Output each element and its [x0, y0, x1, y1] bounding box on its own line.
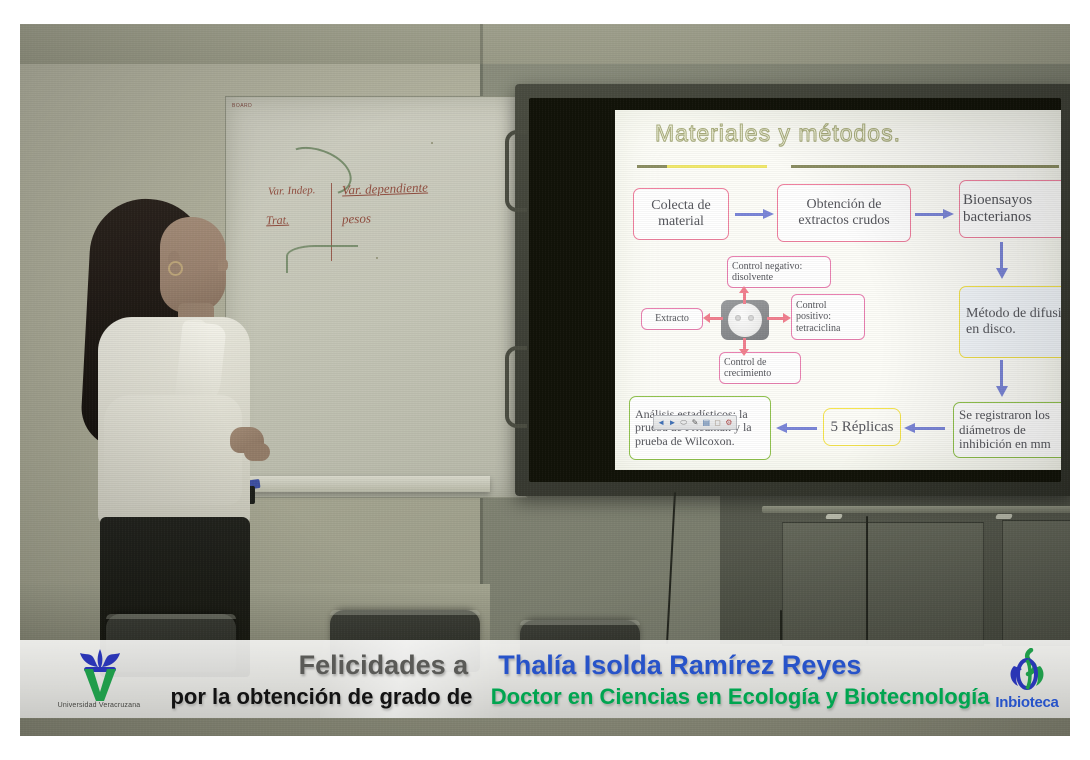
hanging-cable [866, 516, 868, 644]
slide-title: Materiales y métodos. [655, 120, 901, 147]
flow-arrow-1 [735, 208, 775, 220]
universidad-veracruzana-logo: Universidad Veracruzana [44, 646, 154, 718]
ceiling-band [20, 24, 1070, 64]
equipment-rail [762, 506, 1070, 513]
banner-text-block: Felicidades a Thalía Isolda Ramírez Reye… [170, 644, 990, 716]
flow-arrow-3 [995, 242, 1009, 282]
flow-node-diametros: Se registraron los diámetros de inhibici… [953, 402, 1061, 458]
petri-arrow-left [703, 313, 723, 325]
powerpoint-slide: Materiales y métodos. Colecta de materia… [615, 110, 1061, 470]
banner-line-2: por la obtención de grado de Doctor en C… [170, 682, 989, 712]
options-icon[interactable]: ⚙ [724, 417, 734, 428]
whiteboard-note-var-dependiente: Var. dependiente [342, 180, 428, 199]
inbioteca-caption: Inbioteca [984, 694, 1070, 711]
flow-node-bioensayos: Bioensayos bacterianos [959, 180, 1061, 238]
uv-caption: Universidad Veracruzana [44, 702, 154, 709]
banner-felicidades-text: Felicidades a [299, 650, 469, 680]
whiteboard-note-var-indep: Var. Indep. [268, 184, 316, 198]
flow-arrow-5 [903, 422, 947, 436]
slide-rule-olive-right [791, 165, 1059, 168]
banner-line-1: Felicidades a Thalía Isolda Ramírez Reye… [299, 648, 862, 682]
whiteboard-note-pesos: pesos [342, 211, 371, 228]
petri-label-control-positivo: Control positivo: tetraciclina [791, 294, 865, 340]
presenter [82, 199, 297, 669]
petri-label-control-negativo: Control negativo: disolvente [727, 256, 831, 288]
cable-clip-right [995, 514, 1013, 519]
uv-letter-v-icon [82, 668, 118, 702]
banner-degree-name: Doctor en Ciencias en Ecología y Biotecn… [491, 684, 990, 709]
presenter-nose [218, 259, 228, 271]
slide-rule-olive-left [637, 165, 667, 168]
flow-arrow-4 [995, 360, 1009, 400]
frame-handle-bottom [505, 346, 527, 428]
presentation-photo: BOARD Var. Indep. Var. dependiente Trat.… [20, 24, 1070, 736]
next-slide-icon[interactable]: ► [667, 417, 677, 428]
presenter-hand-second [244, 443, 270, 461]
previous-slide-icon[interactable]: ◄ [656, 417, 666, 428]
flow-arrow-6 [775, 422, 819, 436]
projection-screen-frame: Materiales y métodos. Colecta de materia… [515, 84, 1070, 496]
flow-arrow-2 [915, 208, 955, 220]
slide-menu-icon[interactable]: ▤ [701, 417, 711, 428]
inbioteca-flame-icon [984, 648, 1070, 694]
whiteboard-mark [431, 142, 433, 144]
whiteboard-brand-label: BOARD [232, 103, 252, 109]
inbioteca-logo: Inbioteca [984, 648, 1070, 718]
petri-dish-illustration [721, 300, 769, 340]
flow-node-obtencion: Obtención de extractos crudos [777, 184, 911, 242]
flow-node-metodo-difusion: Método de difusión en disco. [959, 286, 1061, 358]
slide-rule-yellow [667, 165, 767, 168]
banner-graduate-name: Thalía Isolda Ramírez Reyes [498, 650, 861, 680]
presenter-sleeve [104, 395, 242, 505]
pen-icon[interactable]: ✎ [690, 417, 700, 428]
petri-label-extracto: Extracto [641, 308, 703, 330]
whiteboard-mark [376, 257, 378, 259]
cable-clip-left [825, 514, 843, 519]
flow-node-replicas: 5 Réplicas [823, 408, 901, 446]
presenter-earring [168, 261, 183, 276]
congratulations-banner: Felicidades a Thalía Isolda Ramírez Reye… [20, 640, 1070, 718]
equipment-panel-right [1002, 520, 1070, 646]
petri-label-control-crecimiento: Control de crecimiento [719, 352, 801, 384]
projection-screen-surface: Materiales y métodos. Colecta de materia… [529, 98, 1061, 482]
petri-arrow-up [739, 286, 751, 304]
petri-arrow-down [739, 338, 751, 356]
poster-root: BOARD Var. Indep. Var. dependiente Trat.… [0, 0, 1090, 760]
flow-node-colecta: Colecta de material [633, 188, 729, 240]
pointer-icon[interactable]: ⬭ [679, 417, 689, 428]
hanging-cable [780, 610, 782, 644]
banner-degree-prefix: por la obtención de grado de [170, 684, 472, 709]
powerpoint-slideshow-toolbar[interactable]: ◄ ► ⬭ ✎ ▤ ◻ ⚙ [653, 415, 737, 430]
eraser-icon[interactable]: ◻ [712, 417, 722, 428]
frame-handle-top [505, 130, 527, 212]
petri-arrow-right [767, 313, 793, 325]
equipment-panel-left [782, 522, 984, 646]
